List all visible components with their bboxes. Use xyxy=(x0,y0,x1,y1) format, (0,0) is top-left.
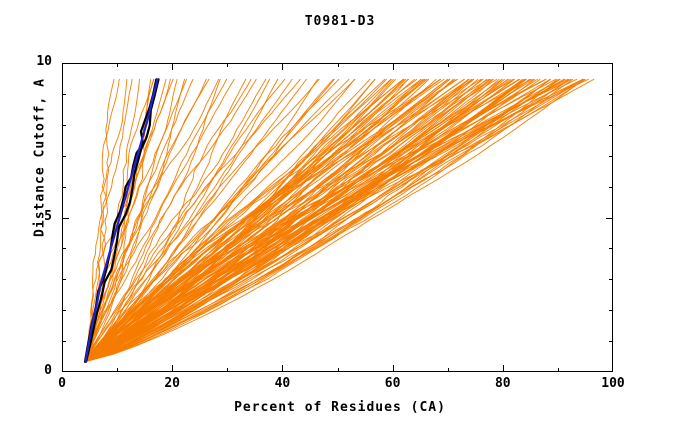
y-axis-label: Distance Cutoff, A xyxy=(33,38,48,278)
y-tick xyxy=(609,125,613,126)
x-tick-label: 0 xyxy=(42,376,82,391)
y-tick xyxy=(62,125,66,126)
plot-area xyxy=(62,63,613,372)
y-tick xyxy=(62,248,66,249)
x-tick xyxy=(172,63,173,70)
y-tick xyxy=(62,94,66,95)
x-tick xyxy=(448,368,449,372)
y-tick xyxy=(609,248,613,249)
x-tick xyxy=(227,63,228,67)
x-tick xyxy=(393,365,394,372)
y-tick xyxy=(62,279,66,280)
x-tick xyxy=(558,63,559,67)
y-tick xyxy=(62,187,66,188)
y-tick xyxy=(609,341,613,342)
y-tick xyxy=(609,187,613,188)
x-tick xyxy=(338,63,339,67)
y-tick xyxy=(62,341,66,342)
x-tick xyxy=(282,365,283,372)
y-tick xyxy=(62,218,69,219)
x-tick xyxy=(558,368,559,372)
x-tick-label: 80 xyxy=(483,376,523,391)
x-tick xyxy=(172,365,173,372)
y-tick-label: 0 xyxy=(0,363,52,378)
x-tick xyxy=(448,63,449,67)
x-tick xyxy=(393,63,394,70)
y-tick xyxy=(606,218,613,219)
chart-root: T0981-D3 020406080100 0510 Percent of Re… xyxy=(0,0,680,440)
x-tick-label: 20 xyxy=(152,376,192,391)
y-tick xyxy=(609,310,613,311)
x-tick xyxy=(117,63,118,67)
x-axis-label: Percent of Residues (CA) xyxy=(0,400,680,415)
y-tick xyxy=(609,156,613,157)
x-tick xyxy=(227,368,228,372)
y-tick xyxy=(609,94,613,95)
plot-title: T0981-D3 xyxy=(0,14,680,29)
x-tick xyxy=(503,365,504,372)
y-tick xyxy=(62,310,66,311)
x-tick-label: 100 xyxy=(593,376,633,391)
x-tick-label: 40 xyxy=(262,376,302,391)
x-tick xyxy=(282,63,283,70)
curve-canvas xyxy=(63,64,612,371)
x-tick xyxy=(338,368,339,372)
y-tick xyxy=(609,279,613,280)
x-tick xyxy=(117,368,118,372)
x-tick-label: 60 xyxy=(373,376,413,391)
y-tick xyxy=(62,156,66,157)
x-tick xyxy=(503,63,504,70)
